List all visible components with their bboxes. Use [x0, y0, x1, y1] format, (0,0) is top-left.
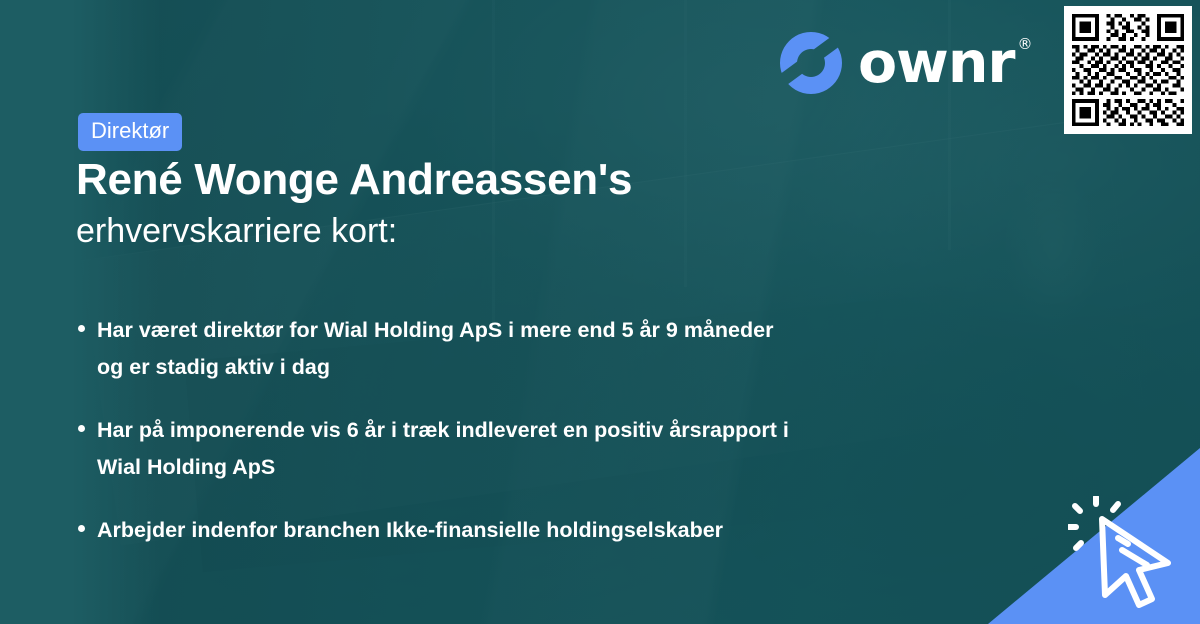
career-facts-list: Har været direktør for Wial Holding ApS …: [78, 312, 938, 575]
registered-trademark-icon: ®: [1018, 37, 1032, 52]
logo-wordmark-text: ownr: [858, 30, 1015, 96]
page-title: René Wonge Andreassen's: [76, 157, 976, 203]
ownr-logo: ownr®: [778, 30, 1015, 96]
role-badge: Direktør: [78, 113, 182, 151]
bullet-dot-icon: [78, 525, 85, 532]
bullet-dot-icon: [78, 425, 85, 432]
marketing-card: ownr®: [0, 0, 1200, 624]
list-item-text: Har på imponerende vis 6 år i træk indle…: [97, 412, 797, 486]
ownr-circular-mark: [778, 30, 844, 96]
bullet-dot-icon: [78, 325, 85, 332]
qr-code-image: [1064, 6, 1192, 134]
list-item-text: Arbejder indenfor branchen Ikke-finansie…: [97, 512, 723, 549]
logo-wordmark: ownr®: [858, 35, 1015, 92]
list-item-text: Har været direktør for Wial Holding ApS …: [97, 312, 797, 386]
page-subtitle: erhvervskarriere kort:: [76, 212, 976, 251]
list-item: Har på imponerende vis 6 år i træk indle…: [78, 412, 938, 486]
click-cursor-icon: [1068, 496, 1192, 608]
list-item: Har været direktør for Wial Holding ApS …: [78, 312, 938, 386]
list-item: Arbejder indenfor branchen Ikke-finansie…: [78, 512, 938, 549]
qr-code[interactable]: [1064, 6, 1192, 134]
